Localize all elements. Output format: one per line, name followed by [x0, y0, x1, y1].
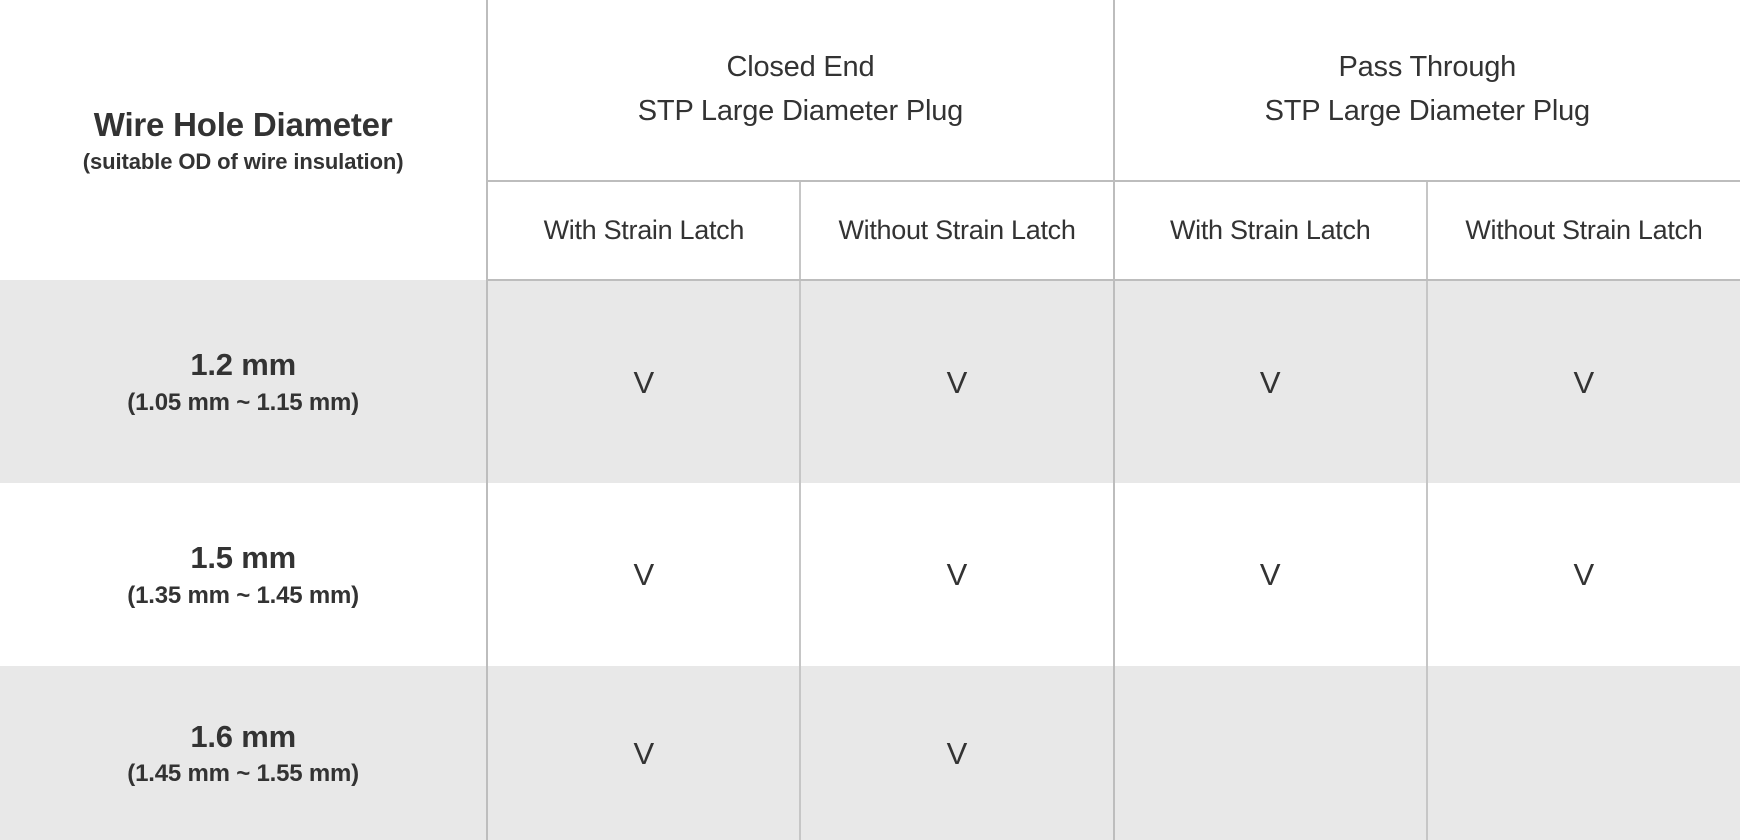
sub-header-pass-through-without-latch: Without Strain Latch: [1427, 181, 1740, 280]
check-mark-icon: V: [634, 367, 655, 398]
group-header-closed-end: Closed End STP Large Diameter Plug: [487, 0, 1113, 181]
group-header-pass-through-line1: Pass Through: [1115, 46, 1740, 90]
cell-pass-through-with-latch: V: [1114, 280, 1427, 483]
cell-pass-through-without-latch: V: [1427, 483, 1740, 666]
group-header-pass-through: Pass Through STP Large Diameter Plug: [1114, 0, 1740, 181]
sub-header-closed-end-without-latch: Without Strain Latch: [800, 181, 1113, 280]
cell-pass-through-with-latch: [1114, 666, 1427, 840]
sub-header-closed-end-with-latch: With Strain Latch: [487, 181, 800, 280]
check-mark-icon: V: [947, 559, 968, 590]
wire-hole-diameter-table: Wire Hole Diameter (suitable OD of wire …: [0, 0, 1740, 840]
group-header-closed-end-line1: Closed End: [488, 46, 1112, 90]
check-mark-icon: V: [1260, 367, 1281, 398]
table-row: 1.6 mm (1.45 mm ~ 1.55 mm) V V: [0, 666, 1740, 840]
cell-closed-end-with-latch: V: [487, 280, 800, 483]
row-diameter-range: (1.05 mm ~ 1.15 mm): [0, 387, 486, 418]
row-diameter-value: 1.2 mm: [0, 345, 486, 385]
cell-closed-end-with-latch: V: [487, 666, 800, 840]
cell-closed-end-with-latch: V: [487, 483, 800, 666]
page-title: Wire Hole Diameter: [0, 105, 486, 145]
row-diameter-value: 1.5 mm: [0, 538, 486, 578]
check-mark-icon: V: [1260, 559, 1281, 590]
row-diameter-range: (1.45 mm ~ 1.55 mm): [0, 758, 486, 789]
row-diameter-cell: 1.5 mm (1.35 mm ~ 1.45 mm): [0, 483, 487, 666]
cell-closed-end-without-latch: V: [800, 666, 1113, 840]
group-header-row: Wire Hole Diameter (suitable OD of wire …: [0, 0, 1740, 181]
cell-pass-through-without-latch: V: [1427, 280, 1740, 483]
check-mark-icon: V: [1574, 559, 1595, 590]
row-diameter-cell: 1.2 mm (1.05 mm ~ 1.15 mm): [0, 280, 487, 483]
cell-closed-end-without-latch: V: [800, 280, 1113, 483]
group-header-pass-through-line2: STP Large Diameter Plug: [1115, 90, 1740, 134]
wire-hole-diameter-header-cell: Wire Hole Diameter (suitable OD of wire …: [0, 0, 487, 280]
check-mark-icon: V: [634, 559, 655, 590]
page-subtitle: (suitable OD of wire insulation): [0, 148, 486, 176]
group-header-closed-end-line2: STP Large Diameter Plug: [488, 90, 1112, 134]
row-diameter-value: 1.6 mm: [0, 717, 486, 757]
table-row: 1.2 mm (1.05 mm ~ 1.15 mm) V V V V: [0, 280, 1740, 483]
check-mark-icon: V: [947, 367, 968, 398]
check-mark-icon: V: [947, 738, 968, 769]
sub-header-pass-through-with-latch: With Strain Latch: [1114, 181, 1427, 280]
cell-pass-through-with-latch: V: [1114, 483, 1427, 666]
row-diameter-range: (1.35 mm ~ 1.45 mm): [0, 580, 486, 611]
table-row: 1.5 mm (1.35 mm ~ 1.45 mm) V V V V: [0, 483, 1740, 666]
check-mark-icon: V: [634, 738, 655, 769]
cell-closed-end-without-latch: V: [800, 483, 1113, 666]
row-diameter-cell: 1.6 mm (1.45 mm ~ 1.55 mm): [0, 666, 487, 840]
check-mark-icon: V: [1574, 367, 1595, 398]
cell-pass-through-without-latch: [1427, 666, 1740, 840]
